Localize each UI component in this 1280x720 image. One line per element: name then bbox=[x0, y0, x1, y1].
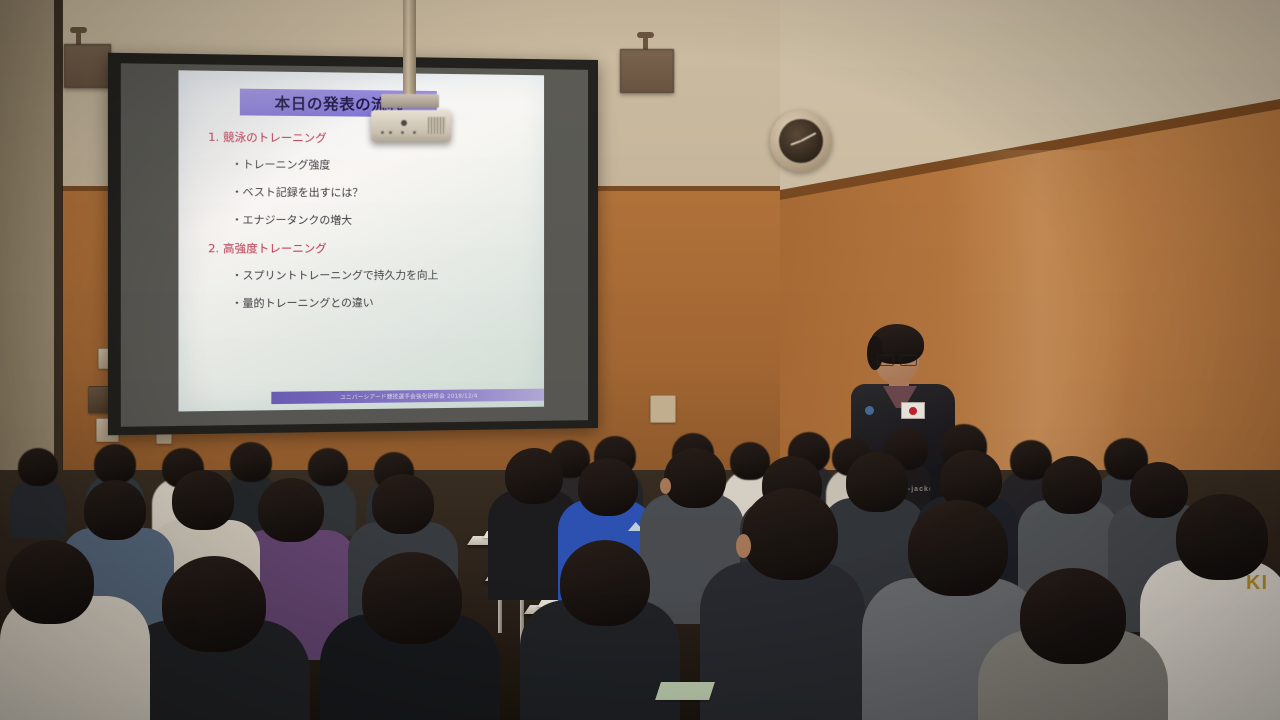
attendee-head bbox=[1020, 568, 1126, 664]
slide-body: 1. 競泳のトレーニング ・トレーニング強度 ・ベスト記録を出すには？ ・エナジ… bbox=[195, 128, 534, 323]
projector-bracket bbox=[381, 94, 439, 108]
slide-footer-text: ユニバーシアード競技選手会強化研修会 2018/12/4 bbox=[340, 391, 477, 401]
presenter-badge-icon bbox=[865, 406, 874, 415]
attendee-head bbox=[1042, 456, 1102, 514]
attendee-head bbox=[362, 552, 462, 644]
speaker-left bbox=[64, 44, 111, 88]
projector-vent-icon bbox=[428, 117, 446, 134]
projector-led-icon bbox=[413, 131, 416, 134]
speaker-right bbox=[620, 49, 674, 93]
flag-patch-icon bbox=[901, 402, 925, 419]
projector-lens-icon bbox=[401, 120, 407, 126]
speaker-stem-right bbox=[643, 36, 648, 50]
attendee-head bbox=[84, 480, 146, 540]
clock-hour-hand bbox=[790, 140, 801, 146]
left-wall-return bbox=[0, 0, 62, 470]
attendee-ear bbox=[660, 478, 671, 494]
attendee-head bbox=[172, 470, 234, 530]
attendee-head bbox=[94, 444, 136, 484]
attendee-head bbox=[308, 448, 348, 486]
attendee-head bbox=[162, 556, 266, 652]
wall-clock bbox=[770, 110, 832, 172]
attendee-head bbox=[578, 458, 638, 516]
slide-subpoint: ・エナジータンクの増大 bbox=[231, 212, 534, 228]
projector-pole bbox=[403, 0, 416, 102]
attendee-head bbox=[742, 488, 838, 580]
wall-outlet-plate-6[interactable] bbox=[650, 395, 676, 423]
attendee-head bbox=[560, 540, 650, 626]
lecture-hall-photo: 本日の発表の流れ 1. 競泳のトレーニング ・トレーニング強度 ・ベスト記録を出… bbox=[0, 0, 1280, 720]
slide-footer: ユニバーシアード競技選手会強化研修会 2018/12/4 bbox=[271, 389, 544, 404]
attendee-head bbox=[18, 448, 58, 486]
slide-subpoint: ・スプリントトレーニングで持久力を向上 bbox=[231, 267, 534, 283]
attendee-head bbox=[846, 452, 908, 512]
projection-screen: 本日の発表の流れ 1. 競泳のトレーニング ・トレーニング強度 ・ベスト記録を出… bbox=[178, 70, 544, 411]
slide-heading-2: 2. 高強度トレーニング bbox=[208, 240, 534, 257]
attendee-ear bbox=[736, 534, 751, 558]
slide-subpoint: ・トレーニング強度 bbox=[231, 156, 534, 173]
attendee-head bbox=[1130, 462, 1188, 518]
glasses-icon bbox=[877, 354, 917, 364]
attendee-body bbox=[700, 562, 865, 720]
clock-minute-hand bbox=[801, 132, 817, 142]
blackboard-with-screen: 本日の発表の流れ 1. 競泳のトレーニング ・トレーニング強度 ・ベスト記録を出… bbox=[108, 53, 598, 436]
projector bbox=[371, 110, 451, 142]
attendee-head bbox=[230, 442, 272, 482]
projector-led-icon bbox=[381, 131, 384, 134]
handout-paper bbox=[655, 682, 715, 700]
left-wall-shadow-edge bbox=[54, 0, 63, 470]
tee-text: KI bbox=[1246, 572, 1268, 595]
projector-led-icon bbox=[389, 131, 392, 134]
attendee-head bbox=[505, 448, 563, 504]
slide-subpoint: ・ベスト記録を出すには？ bbox=[231, 184, 534, 200]
attendee-head bbox=[6, 540, 94, 624]
attendee-head bbox=[664, 448, 726, 508]
clock-face bbox=[779, 119, 823, 163]
projector-led-icon bbox=[401, 131, 404, 134]
attendee-head bbox=[1176, 494, 1268, 580]
slide-subpoint: ・量的トレーニングとの違い bbox=[231, 294, 534, 311]
attendee-body bbox=[10, 478, 66, 538]
attendee-head bbox=[908, 500, 1008, 596]
attendee-head bbox=[372, 474, 434, 534]
speaker-stem-left bbox=[76, 31, 81, 45]
attendee-head bbox=[258, 478, 324, 542]
